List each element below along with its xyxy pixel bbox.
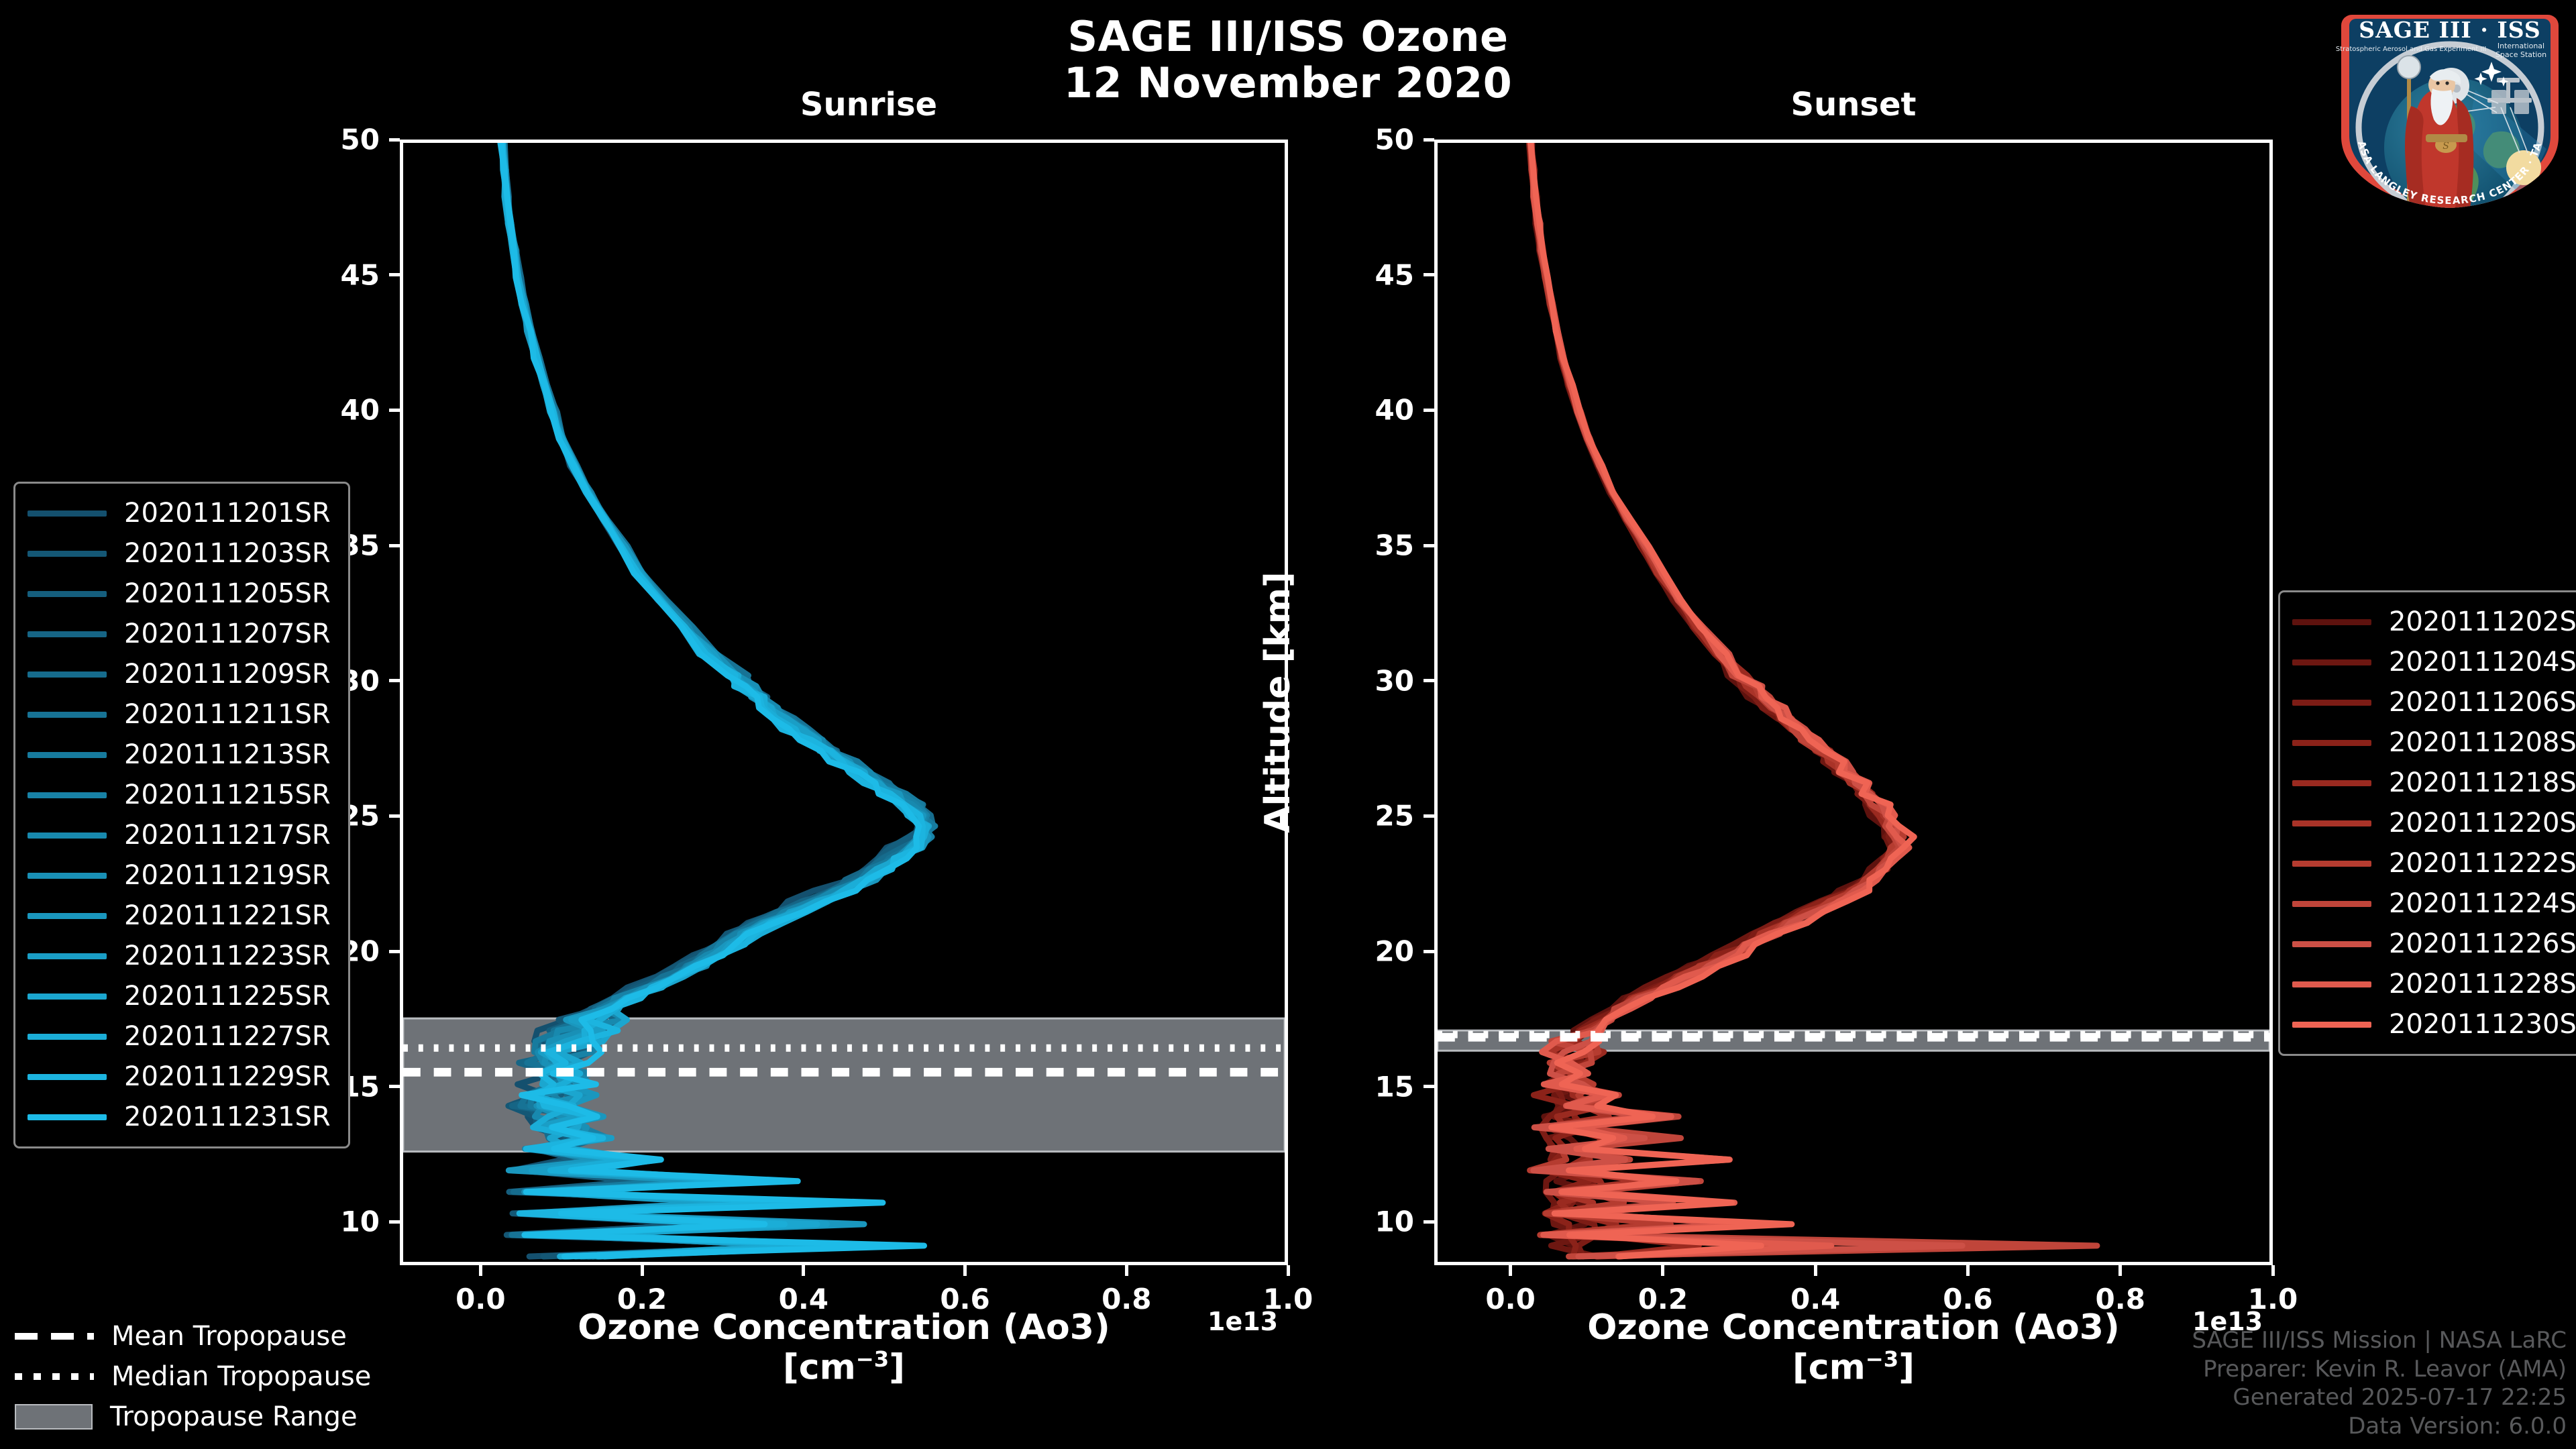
x-axis-label-left: Ozone Concentration (Ao3) [cm−3]: [400, 1308, 1288, 1387]
x-axis-label-right: Ozone Concentration (Ao3) [cm−3]: [1434, 1308, 2273, 1387]
y-tick-mark: [1424, 544, 1434, 547]
line-swatch-icon: [2292, 981, 2371, 987]
y-tick-mark: [389, 950, 400, 953]
line-swatch-icon: [28, 712, 107, 718]
legend-item-sunrise-8[interactable]: 2020111217SR: [28, 815, 331, 855]
y-tick-label: 40: [1313, 394, 1414, 427]
legend-item-sunset-1[interactable]: 2020111204SS: [2292, 642, 2576, 682]
legend-label: 2020111213SR: [124, 739, 331, 770]
x-tick-mark: [963, 1265, 967, 1276]
y-tick-mark: [1424, 138, 1434, 142]
legend-item-sunrise-14[interactable]: 2020111229SR: [28, 1057, 331, 1097]
y-tick-mark: [389, 544, 400, 547]
line-swatch-icon: [28, 792, 107, 798]
legend-item-sunset-6[interactable]: 2020111222SS: [2292, 843, 2576, 883]
ozone-profile-line: [1532, 143, 2097, 1256]
line-swatch-icon: [28, 873, 107, 879]
x-tick-mark: [802, 1265, 805, 1276]
title-line-1: SAGE III/ISS Ozone: [0, 13, 2576, 60]
dotted-line-icon: [15, 1373, 94, 1380]
legend-item-sunrise-15[interactable]: 2020111231SR: [28, 1097, 331, 1137]
legend-item-tropopause-range[interactable]: Tropopause Range: [15, 1397, 371, 1437]
y-axis-label-right: Altitude [km]: [1258, 572, 1298, 833]
legend-label: 2020111224SS: [2389, 888, 2576, 919]
x-tick-mark: [2271, 1265, 2275, 1276]
x-tick-mark: [1287, 1265, 1290, 1276]
legend-item-sunset-2[interactable]: 2020111206SS: [2292, 682, 2576, 722]
legend-label: 2020111215SR: [124, 780, 331, 810]
legend-item-sunrise-12[interactable]: 2020111225SR: [28, 976, 331, 1016]
legend-item-sunrise-7[interactable]: 2020111215SR: [28, 775, 331, 815]
line-swatch-icon: [28, 913, 107, 919]
x-tick-mark: [1125, 1265, 1128, 1276]
svg-text:S: S: [2443, 141, 2449, 152]
legend-label: 2020111202SS: [2389, 606, 2576, 637]
y-tick-label: 40: [279, 394, 380, 427]
plot-area-sunset[interactable]: [1434, 140, 2273, 1265]
line-swatch-icon: [28, 1114, 107, 1120]
y-tick-mark: [389, 814, 400, 818]
y-tick-mark: [389, 273, 400, 276]
legend-item-sunset-4[interactable]: 2020111218SS: [2292, 763, 2576, 803]
y-tick-mark: [1424, 273, 1434, 276]
y-tick-mark: [389, 1085, 400, 1088]
x-axis-label-right-line1: Ozone Concentration (Ao3): [1434, 1308, 2273, 1347]
line-swatch-icon: [28, 953, 107, 959]
credits-line-3: Generated 2025-07-17 22:25: [2192, 1383, 2567, 1412]
y-tick-mark: [1424, 1220, 1434, 1224]
y-tick-mark: [1424, 814, 1434, 818]
legend-item-sunset-0[interactable]: 2020111202SS: [2292, 602, 2576, 642]
y-tick-mark: [1424, 950, 1434, 953]
legend-item-sunset-5[interactable]: 2020111220SS: [2292, 803, 2576, 843]
filled-band-icon: [15, 1404, 93, 1430]
line-swatch-icon: [28, 833, 107, 839]
line-swatch-icon: [28, 551, 107, 557]
line-swatch-icon: [2292, 700, 2371, 706]
legend-label: 2020111201SR: [124, 498, 331, 529]
legend-label: 2020111226SS: [2389, 928, 2576, 959]
credits-line-2: Preparer: Kevin R. Leavor (AMA): [2192, 1355, 2567, 1384]
legend-item-sunset-3[interactable]: 2020111208SS: [2292, 722, 2576, 763]
y-tick-mark: [389, 409, 400, 412]
legend-item-sunrise-0[interactable]: 2020111201SR: [28, 493, 331, 533]
line-swatch-icon: [28, 672, 107, 678]
x-axis-label-left-line1: Ozone Concentration (Ao3): [400, 1308, 1288, 1347]
x-axis-offset-left: 1e13: [1207, 1307, 1278, 1336]
x-tick-mark: [479, 1265, 482, 1276]
line-swatch-icon: [2292, 659, 2371, 665]
credits-line-1: SAGE III/ISS Mission | NASA LaRC: [2192, 1326, 2567, 1355]
legend-label-median-tropopause: Median Tropopause: [111, 1361, 371, 1392]
line-swatch-icon: [28, 591, 107, 597]
patch-subtitle-right-1: International: [2498, 42, 2544, 50]
credits-block: SAGE III/ISS Mission | NASA LaRC Prepare…: [2192, 1326, 2567, 1441]
line-swatch-icon: [2292, 941, 2371, 947]
legend-label: 2020111203SR: [124, 538, 331, 569]
legend-label: 2020111206SS: [2389, 687, 2576, 718]
legend-label: 2020111225SR: [124, 981, 331, 1012]
x-tick-mark: [2118, 1265, 2122, 1276]
legend-item-sunrise-4[interactable]: 2020111209SR: [28, 654, 331, 694]
y-tick-label: 45: [279, 258, 380, 291]
sunset-profile-svg: [1438, 143, 2269, 1262]
legend-label: 2020111227SR: [124, 1021, 331, 1052]
legend-item-mean-tropopause[interactable]: Mean Tropopause: [15, 1316, 371, 1356]
x-tick-mark: [1509, 1265, 1512, 1276]
legend-label: 2020111231SR: [124, 1102, 331, 1132]
y-tick-label: 15: [1313, 1070, 1414, 1103]
legend-item-sunrise-3[interactable]: 2020111207SR: [28, 614, 331, 654]
legend-label: 2020111205SR: [124, 578, 331, 609]
line-swatch-icon: [28, 511, 107, 517]
legend-label: 2020111228SS: [2389, 969, 2576, 1000]
line-swatch-icon: [28, 994, 107, 1000]
legend-label: 2020111229SR: [124, 1061, 331, 1092]
legend-sunrise[interactable]: 2020111201SR2020111203SR2020111205SR2020…: [13, 482, 350, 1148]
legend-sunset[interactable]: 2020111202SS2020111204SS2020111206SS2020…: [2278, 590, 2576, 1056]
patch-subtitle-left: Stratospheric Aerosol and Gas Experiment…: [2336, 46, 2486, 53]
legend-item-sunrise-1[interactable]: 2020111203SR: [28, 533, 331, 574]
line-swatch-icon: [2292, 1022, 2371, 1028]
legend-item-sunset-8[interactable]: 2020111226SS: [2292, 924, 2576, 964]
patch-subtitle-right-2: Space Station: [2495, 50, 2546, 59]
mission-patch-svg: S SAGE III · ISS Stratospheric Aerosol a…: [2332, 5, 2568, 213]
panel-title-sunset: Sunset: [1434, 86, 2273, 123]
x-tick-mark: [1814, 1265, 1817, 1276]
x-axis-label-right-line2: [cm−3]: [1434, 1347, 2273, 1387]
legend-label: 2020111207SR: [124, 619, 331, 649]
y-tick-mark: [1424, 1085, 1434, 1088]
legend-item-sunrise-10[interactable]: 2020111221SR: [28, 896, 331, 936]
panel-title-sunrise: Sunrise: [449, 86, 1288, 123]
line-swatch-icon: [2292, 780, 2371, 786]
patch-title: SAGE III · ISS: [2359, 17, 2540, 43]
legend-label: 2020111220SS: [2389, 808, 2576, 839]
ozone-profile-line: [1531, 143, 1915, 1256]
legend-label: 2020111218SS: [2389, 767, 2576, 798]
x-tick-mark: [1661, 1265, 1664, 1276]
line-swatch-icon: [2292, 901, 2371, 907]
line-swatch-icon: [28, 1074, 107, 1080]
legend-label: 2020111217SR: [124, 820, 331, 851]
x-tick-mark: [1966, 1265, 1970, 1276]
legend-item-sunrise-11[interactable]: 2020111223SR: [28, 936, 331, 976]
y-tick-label: 50: [279, 123, 380, 156]
legend-label: 2020111223SR: [124, 941, 331, 971]
legend-label-tropopause-range: Tropopause Range: [110, 1401, 358, 1432]
y-tick-mark: [1424, 409, 1434, 412]
line-swatch-icon: [2292, 619, 2371, 625]
y-tick-mark: [1424, 679, 1434, 682]
legend-item-sunset-7[interactable]: 2020111224SS: [2292, 883, 2576, 924]
credits-line-4: Data Version: 6.0.0: [2192, 1412, 2567, 1441]
legend-label: 2020111230SS: [2389, 1009, 2576, 1040]
sage-iii-iss-mission-patch-logo: S SAGE III · ISS Stratospheric Aerosol a…: [2332, 5, 2568, 213]
line-swatch-icon: [2292, 820, 2371, 826]
dashed-line-icon: [15, 1333, 94, 1340]
legend-item-sunrise-5[interactable]: 2020111211SR: [28, 694, 331, 735]
y-tick-label: 10: [279, 1205, 380, 1238]
y-tick-label: 45: [1313, 258, 1414, 291]
legend-item-sunrise-2[interactable]: 2020111205SR: [28, 574, 331, 614]
y-tick-mark: [389, 1220, 400, 1224]
line-swatch-icon: [28, 752, 107, 758]
legend-label: 2020111219SR: [124, 860, 331, 891]
sunrise-profile-svg: [403, 143, 1285, 1262]
y-tick-mark: [389, 679, 400, 682]
x-tick-mark: [641, 1265, 644, 1276]
x-axis-label-left-line2: [cm−3]: [400, 1347, 1288, 1387]
legend-label: 2020111222SS: [2389, 848, 2576, 879]
legend-label: 2020111211SR: [124, 699, 331, 730]
y-tick-label: 35: [1313, 529, 1414, 562]
legend-item-sunrise-6[interactable]: 2020111213SR: [28, 735, 331, 775]
y-tick-label: 10: [1313, 1205, 1414, 1238]
legend-label: 2020111209SR: [124, 659, 331, 690]
line-swatch-icon: [28, 631, 107, 637]
legend-tropopause[interactable]: Mean Tropopause Median Tropopause Tropop…: [15, 1316, 371, 1437]
legend-item-sunset-10[interactable]: 2020111230SS: [2292, 1004, 2576, 1044]
legend-label: 2020111204SS: [2389, 647, 2576, 678]
line-swatch-icon: [2292, 740, 2371, 746]
y-tick-label: 30: [1313, 664, 1414, 697]
legend-item-sunset-9[interactable]: 2020111228SS: [2292, 964, 2576, 1004]
legend-label: 2020111208SS: [2389, 727, 2576, 758]
line-swatch-icon: [2292, 861, 2371, 867]
legend-item-median-tropopause[interactable]: Median Tropopause: [15, 1356, 371, 1397]
y-tick-label: 25: [1313, 800, 1414, 833]
y-tick-label: 20: [1313, 935, 1414, 968]
legend-label: 2020111221SR: [124, 900, 331, 931]
y-tick-label: 50: [1313, 123, 1414, 156]
y-tick-mark: [389, 138, 400, 142]
legend-item-sunrise-9[interactable]: 2020111219SR: [28, 855, 331, 896]
line-swatch-icon: [28, 1034, 107, 1040]
plot-area-sunrise[interactable]: [400, 140, 1288, 1265]
legend-label-mean-tropopause: Mean Tropopause: [111, 1321, 347, 1352]
legend-item-sunrise-13[interactable]: 2020111227SR: [28, 1016, 331, 1057]
